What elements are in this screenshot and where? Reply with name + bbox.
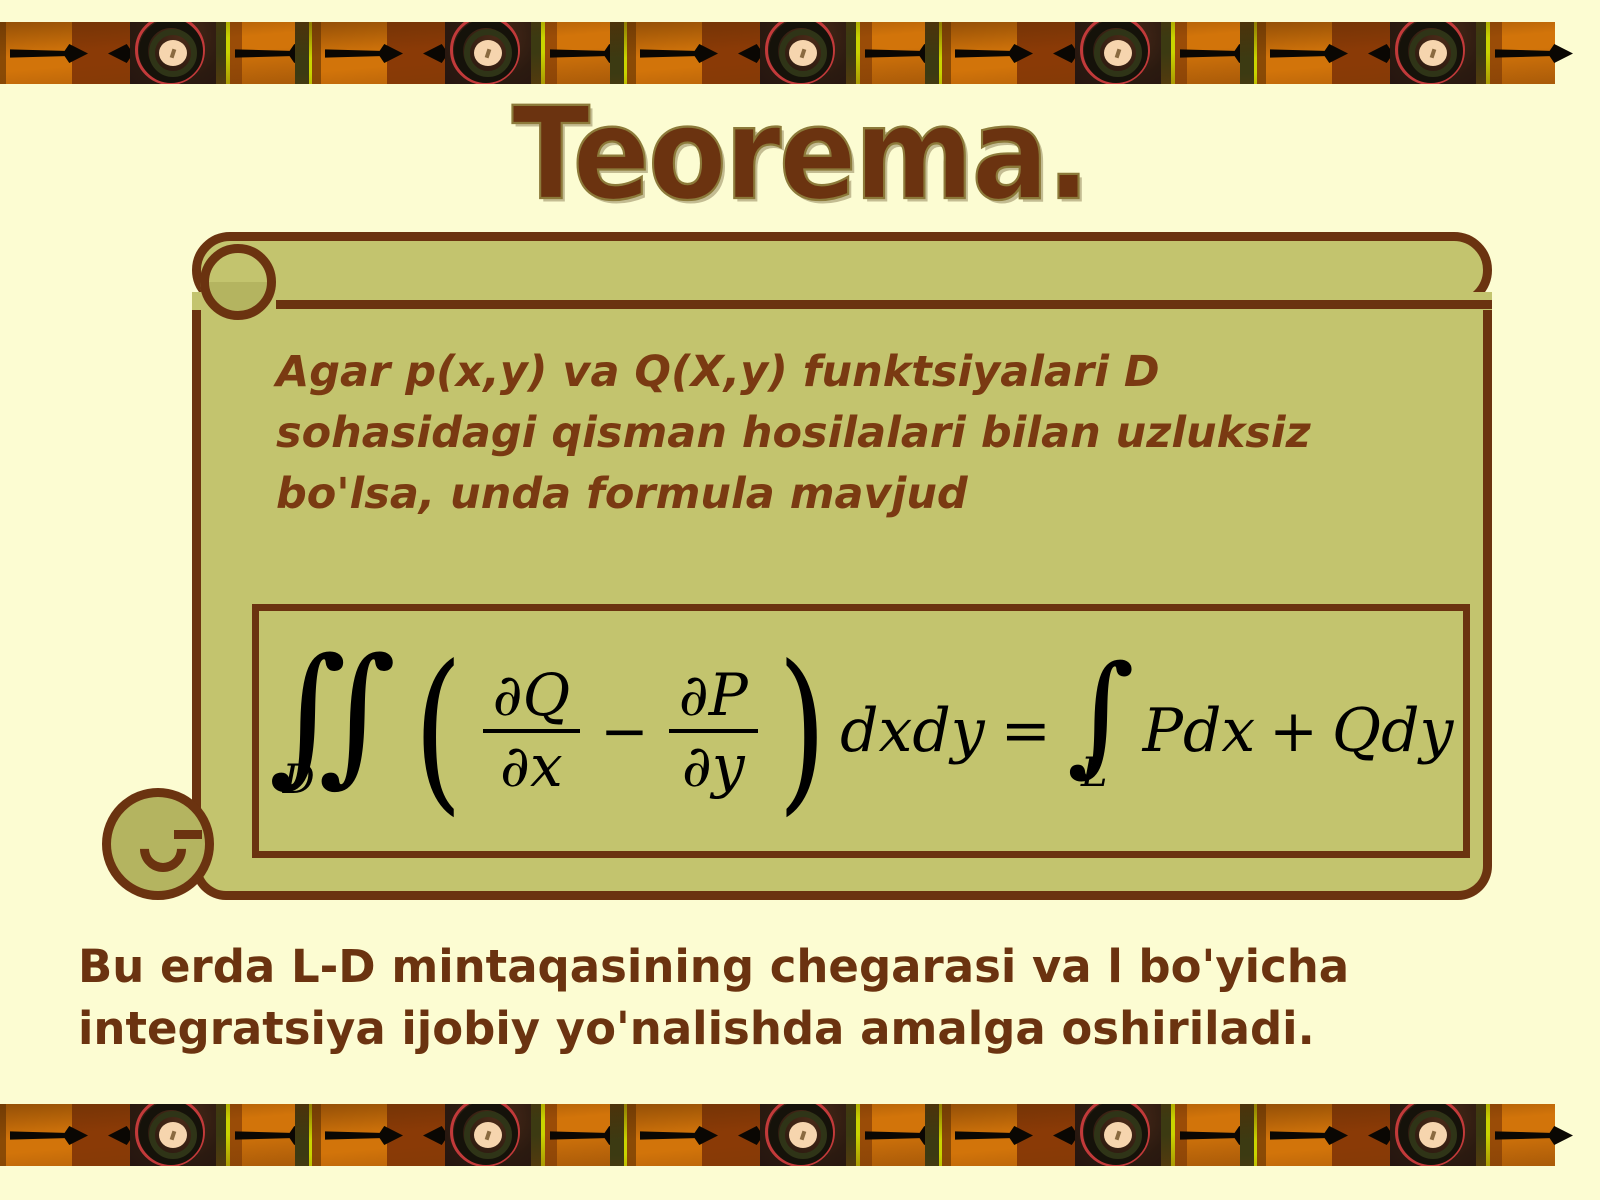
bottom-decorative-border [0, 1104, 1600, 1166]
medallion-icon [130, 1104, 216, 1166]
medallion-icon [445, 1104, 531, 1166]
theorem-statement-line: Agar p(x,y) va Q(X,y) funktsiyalari D [276, 342, 1421, 403]
fraction-numerator: ∂P [669, 664, 758, 729]
equals-operator: = [989, 696, 1063, 766]
slide-canvas: Teorema. Agar p(x,y) va Q(X,y) funktsiya… [0, 0, 1600, 1200]
plus-operator: + [1259, 697, 1328, 765]
formula-box: ∬ D ( ∂Q ∂x − ∂P ∂y ) [252, 604, 1470, 858]
footer-note-line: Bu erda L-D mintaqasining chegarasi va l… [78, 936, 1523, 998]
scroll-neck-divider [276, 300, 1492, 309]
medallion-icon [760, 1104, 846, 1166]
footer-note-line: integratsiya ijobiy yo'nalishda amalga o… [78, 998, 1523, 1060]
fraction-numerator: ∂Q [483, 664, 581, 729]
footer-note: Bu erda L-D mintaqasining chegarasi va l… [78, 936, 1523, 1060]
single-integral-symbol-group: ∫ L [1067, 667, 1135, 796]
scroll-curl-top-left [200, 244, 276, 320]
medallion-icon [1390, 22, 1476, 84]
page-title: Teorema. [0, 92, 1600, 219]
differential-area: dxdy [840, 696, 985, 766]
top-decorative-border [0, 22, 1600, 84]
scroll-panel: Agar p(x,y) va Q(X,y) funktsiyalari D so… [96, 232, 1506, 908]
medallion-icon [130, 22, 216, 84]
partial-P-over-partial-y: ∂P ∂y [669, 664, 758, 797]
double-integral-icon: ∬ [269, 660, 397, 768]
partial-Q-over-partial-x: ∂Q ∂x [483, 664, 581, 797]
medallion-icon [445, 22, 531, 84]
medallion-icon [1075, 22, 1161, 84]
medallion-icon [760, 22, 846, 84]
single-integral-subscript: L [1081, 750, 1108, 796]
theorem-statement-line: sohasidagi qisman hosilalari bilan uzluk… [276, 403, 1421, 464]
medallion-icon [1390, 1104, 1476, 1166]
green-theorem-formula: ∬ D ( ∂Q ∂x − ∂P ∂y ) [259, 611, 1463, 851]
theorem-statement-line: bo'lsa, unda formula mavjud [276, 464, 1421, 525]
fraction-denominator: ∂y [672, 733, 755, 798]
double-integral-subscript: D [283, 757, 315, 803]
rhs-term-qdy: Qdy [1332, 696, 1454, 766]
fraction-denominator: ∂x [490, 733, 573, 798]
minus-operator: − [590, 697, 659, 765]
theorem-statement: Agar p(x,y) va Q(X,y) funktsiyalari D so… [276, 342, 1421, 525]
scroll-curl-bottom-left-tongue [174, 830, 202, 839]
close-paren: ) [777, 677, 826, 786]
single-integral-icon: ∫ [1067, 667, 1135, 761]
rhs-term-pdx: Pdx [1143, 696, 1256, 766]
medallion-icon [1075, 1104, 1161, 1166]
double-integral-symbol-group: ∬ D [269, 660, 397, 803]
open-paren: ( [414, 677, 463, 786]
